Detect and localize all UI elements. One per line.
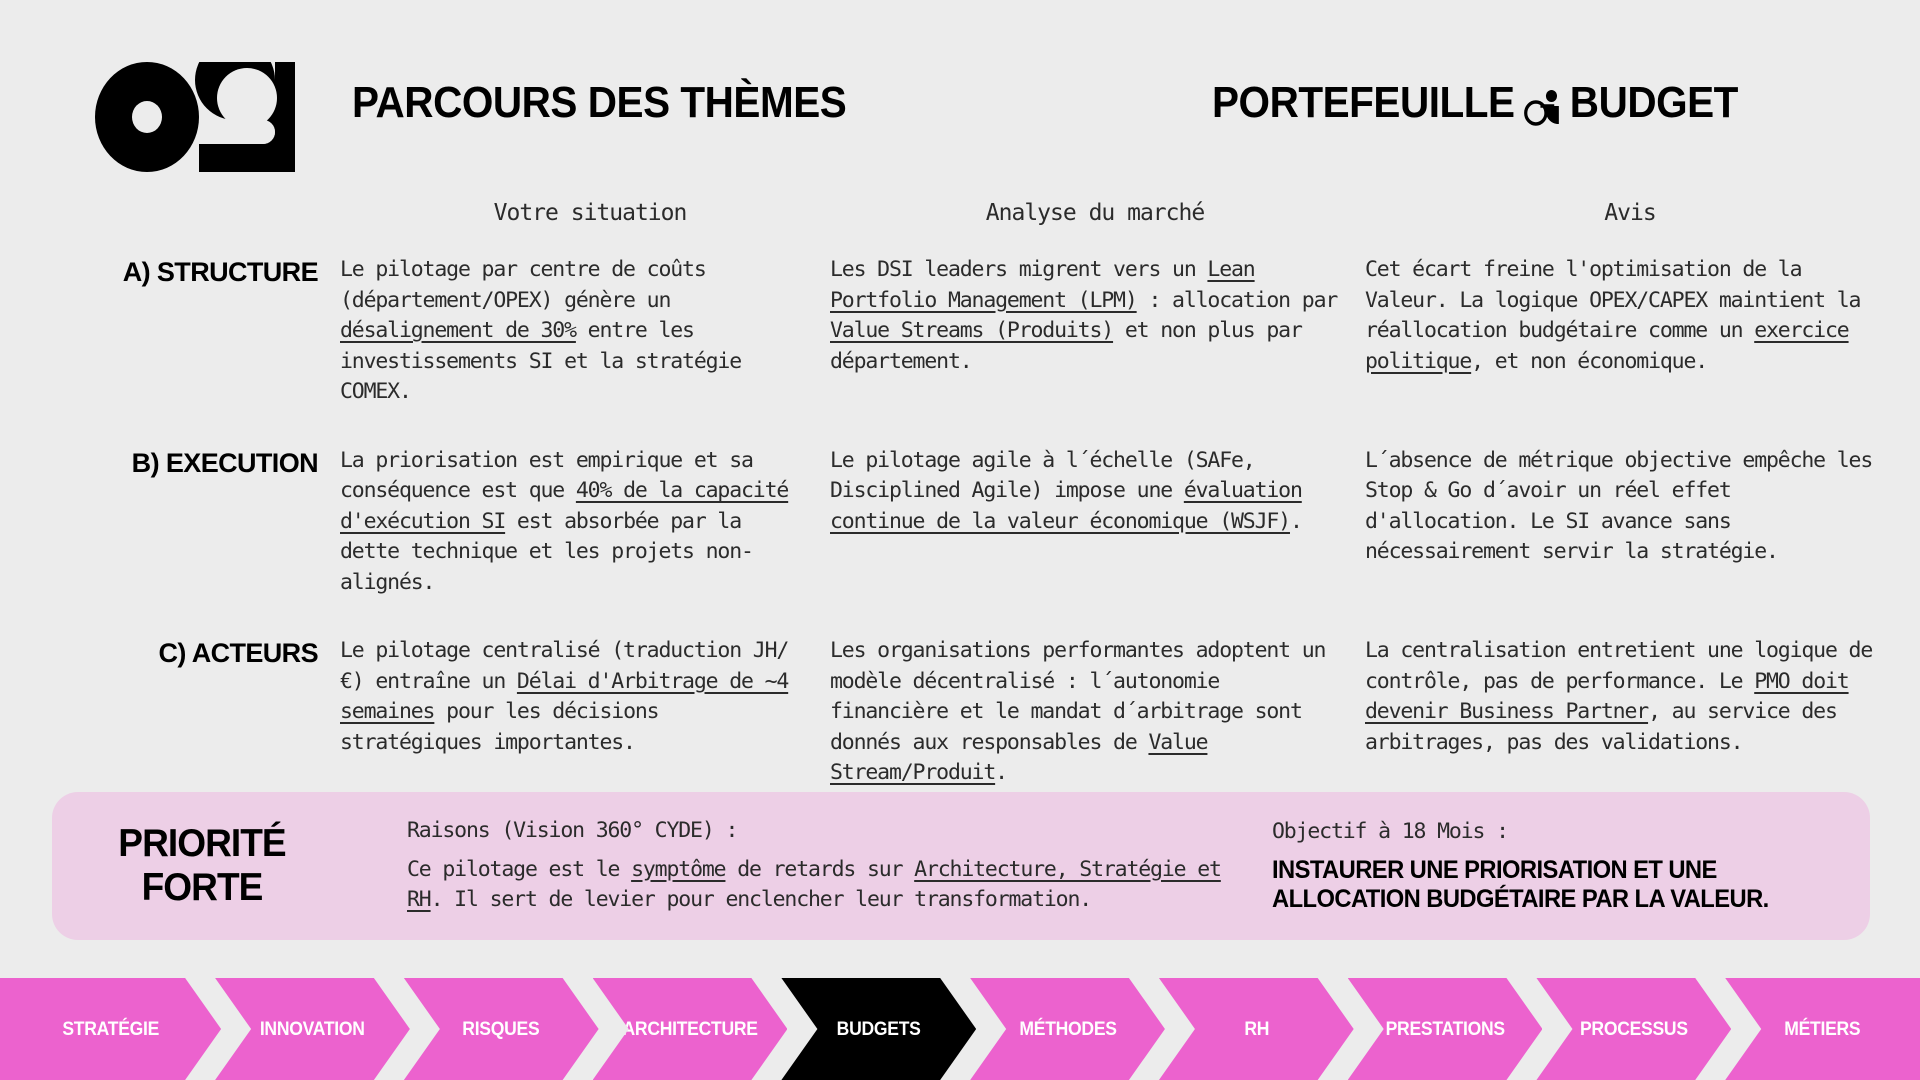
cell-opinion-a: Cet écart freine l'optimisation de la Va… xyxy=(1365,255,1910,408)
priority-line-2: FORTE xyxy=(60,866,345,910)
nav-item-methodes[interactable]: MÉTHODES xyxy=(970,978,1165,1080)
header: PARCOURS DES THÈMES PORTEFEUILLE BUDGET xyxy=(0,0,1920,190)
row-label-acteurs: C) ACTEURS xyxy=(0,636,340,789)
cell-situation-c: Le pilotage centralisé (traduction JH/€)… xyxy=(340,636,830,789)
highlight-text: Délai d'Arbitrage de ~4 semaines xyxy=(340,669,788,725)
cell-market-a: Les DSI leaders migrent vers un Lean Por… xyxy=(830,255,1365,408)
nav-label: STRATÉGIE xyxy=(62,1018,159,1041)
reasons-body: Ce pilotage est le symptôme de retards s… xyxy=(407,855,1252,915)
page-title-portfolio: PORTEFEUILLE BUDGET xyxy=(1212,78,1738,128)
nav-item-innovation[interactable]: INNOVATION xyxy=(215,978,410,1080)
highlight-text: Value Streams (Produits) xyxy=(830,318,1113,343)
nav-label: INNOVATION xyxy=(260,1018,365,1041)
nav-item-prestations[interactable]: PRESTATIONS xyxy=(1348,978,1543,1080)
cell-situation-b: La priorisation est empirique et sa cons… xyxy=(340,446,830,599)
table-row: C) ACTEURS Le pilotage centralisé (tradu… xyxy=(0,636,1920,789)
row-letter: B) xyxy=(132,448,166,478)
cell-situation-a: Le pilotage par centre de coûts (départe… xyxy=(340,255,830,408)
nav-label: MÉTHODES xyxy=(1019,1018,1116,1041)
nav-item-rh[interactable]: RH xyxy=(1159,978,1354,1080)
nav-item-metiers[interactable]: MÉTIERS xyxy=(1725,978,1920,1080)
table-row: A) STRUCTURE Le pilotage par centre de c… xyxy=(0,255,1920,408)
title-budget-text: BUDGET xyxy=(1570,78,1738,128)
nav-label: RISQUES xyxy=(463,1018,540,1041)
priority-line-1: PRIORITÉ xyxy=(60,822,345,866)
objective-label: Objectif à 18 Mois : xyxy=(1272,819,1870,844)
nav-item-risques[interactable]: RISQUES xyxy=(404,978,599,1080)
nav-item-budgets[interactable]: BUDGETS xyxy=(781,978,976,1080)
row-letter: A) xyxy=(123,257,157,287)
row-label-structure: A) STRUCTURE xyxy=(0,255,340,408)
reasons-label: Raisons (Vision 360° CYDE) : xyxy=(407,818,1252,843)
nav-item-architecture[interactable]: ARCHITECTURE xyxy=(593,978,788,1080)
objective-block: Objectif à 18 Mois : INSTAURER UNE PRIOR… xyxy=(1252,819,1870,914)
priority-badge: PRIORITÉ FORTE xyxy=(60,822,345,910)
reasons-block: Raisons (Vision 360° CYDE) : Ce pilotage… xyxy=(352,818,1252,915)
highlight-text: évaluation continue de la valeur économi… xyxy=(830,478,1302,534)
priority-banner: PRIORITÉ FORTE Raisons (Vision 360° CYDE… xyxy=(52,792,1870,940)
column-header-opinion: Avis xyxy=(1365,200,1895,226)
cell-market-c: Les organisations performantes adoptent … xyxy=(830,636,1365,789)
ampersand-ornament-icon xyxy=(1524,84,1561,128)
column-header-situation: Votre situation xyxy=(340,200,840,226)
column-header-market: Analyse du marché xyxy=(830,200,1360,226)
highlight-text: désalignement de 30% xyxy=(340,318,576,343)
cell-opinion-c: La centralisation entretient une logique… xyxy=(1365,636,1910,789)
title-portefeuille-text: PORTEFEUILLE xyxy=(1212,78,1515,128)
nav-item-strategie[interactable]: STRATÉGIE xyxy=(0,978,221,1080)
objective-line-2: ALLOCATION BUDGÉTAIRE PAR LA VALEUR. xyxy=(1272,885,1840,914)
nav-label: ARCHITECTURE xyxy=(622,1018,757,1041)
column-headers: Votre situation Analyse du marché Avis xyxy=(0,200,1920,240)
row-name: EXECUTION xyxy=(166,448,318,478)
logo-02-icon xyxy=(95,62,295,172)
nav-label: PROCESSUS xyxy=(1580,1018,1688,1041)
highlight-text: Architecture, Stratégie et RH xyxy=(407,857,1221,912)
highlight-text: exercice politique xyxy=(1365,318,1849,374)
nav-label: MÉTIERS xyxy=(1785,1018,1861,1041)
table-row: B) EXECUTION La priorisation est empiriq… xyxy=(0,446,1920,599)
cell-opinion-b: L´absence de métrique objective empêche … xyxy=(1365,446,1910,599)
row-name: STRUCTURE xyxy=(157,257,318,287)
highlight-text: Value Stream/Produit xyxy=(830,730,1207,786)
row-name: ACTEURS xyxy=(192,638,318,668)
page-title-themes: PARCOURS DES THÈMES xyxy=(352,78,846,128)
nav-label: RH xyxy=(1244,1018,1269,1041)
nav-label: BUDGETS xyxy=(837,1018,921,1041)
row-label-execution: B) EXECUTION xyxy=(0,446,340,599)
nav-label: PRESTATIONS xyxy=(1385,1018,1504,1041)
highlight-text: PMO doit devenir Business Partner xyxy=(1365,669,1849,725)
theme-rows: A) STRUCTURE Le pilotage par centre de c… xyxy=(0,255,1920,789)
nav-item-processus[interactable]: PROCESSUS xyxy=(1536,978,1731,1080)
highlight-text: Lean Portfolio Management (LPM) xyxy=(830,257,1255,313)
theme-navigation-bar[interactable]: STRATÉGIE INNOVATION RISQUES ARCHITECTUR… xyxy=(0,978,1920,1080)
row-letter: C) xyxy=(158,638,191,668)
highlight-text: symptôme xyxy=(631,857,725,882)
objective-text: INSTAURER UNE PRIORISATION ET UNE ALLOCA… xyxy=(1272,856,1840,914)
highlight-text: 40% de la capacité d'exécution SI xyxy=(340,478,788,534)
objective-line-1: INSTAURER UNE PRIORISATION ET UNE xyxy=(1272,856,1840,885)
slide-root: PARCOURS DES THÈMES PORTEFEUILLE BUDGET … xyxy=(0,0,1920,1080)
cell-market-b: Le pilotage agile à l´échelle (SAFe, Dis… xyxy=(830,446,1365,599)
